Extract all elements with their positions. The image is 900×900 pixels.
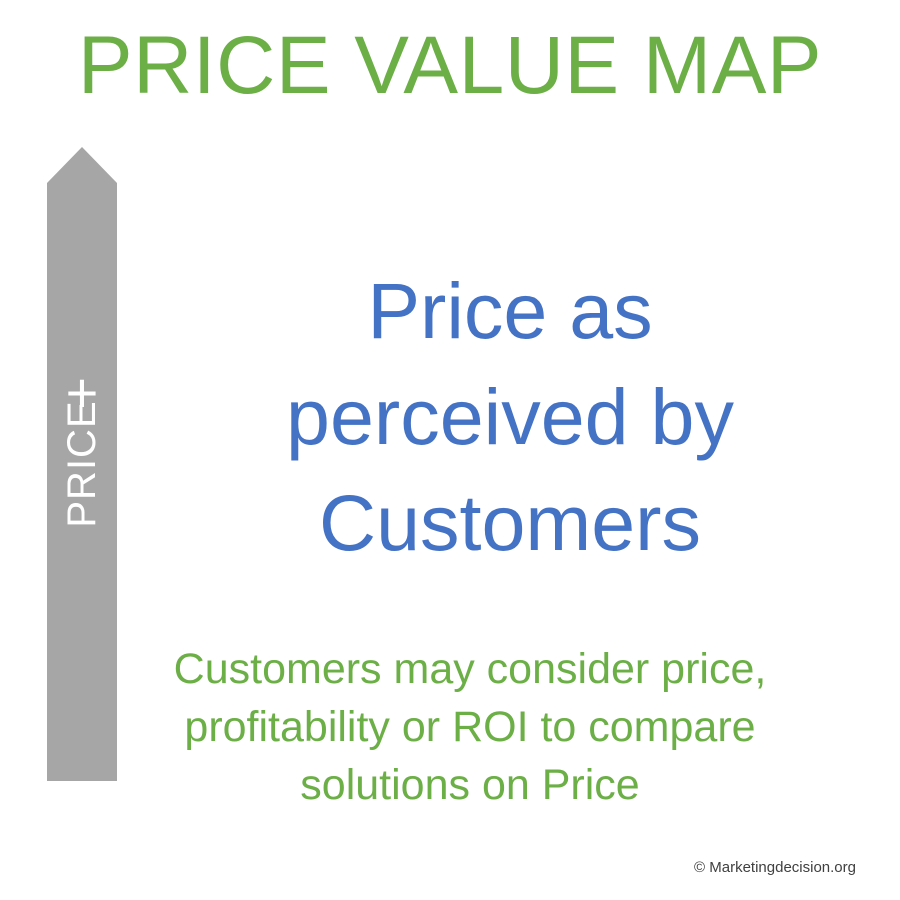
- price-value-map-slide: PRICE VALUE MAP + PRICE - Price as perce…: [0, 0, 900, 900]
- price-axis: + PRICE -: [47, 147, 117, 781]
- headline-line-1: Price as: [180, 258, 840, 364]
- headline: Price as perceived by Customers: [180, 258, 840, 576]
- caption-line-3: solutions on Price: [120, 756, 820, 814]
- axis-low-label: -: [47, 781, 117, 837]
- caption-line-1: Customers may consider price,: [120, 640, 820, 698]
- copyright-notice: © Marketingdecision.org: [694, 858, 856, 878]
- headline-line-2: perceived by: [180, 364, 840, 470]
- caption-line-2: profitability or ROI to compare: [120, 698, 820, 756]
- caption: Customers may consider price, profitabil…: [120, 640, 820, 814]
- page-title: PRICE VALUE MAP: [0, 18, 900, 114]
- axis-title-price: PRICE: [62, 384, 102, 544]
- headline-line-3: Customers: [180, 470, 840, 576]
